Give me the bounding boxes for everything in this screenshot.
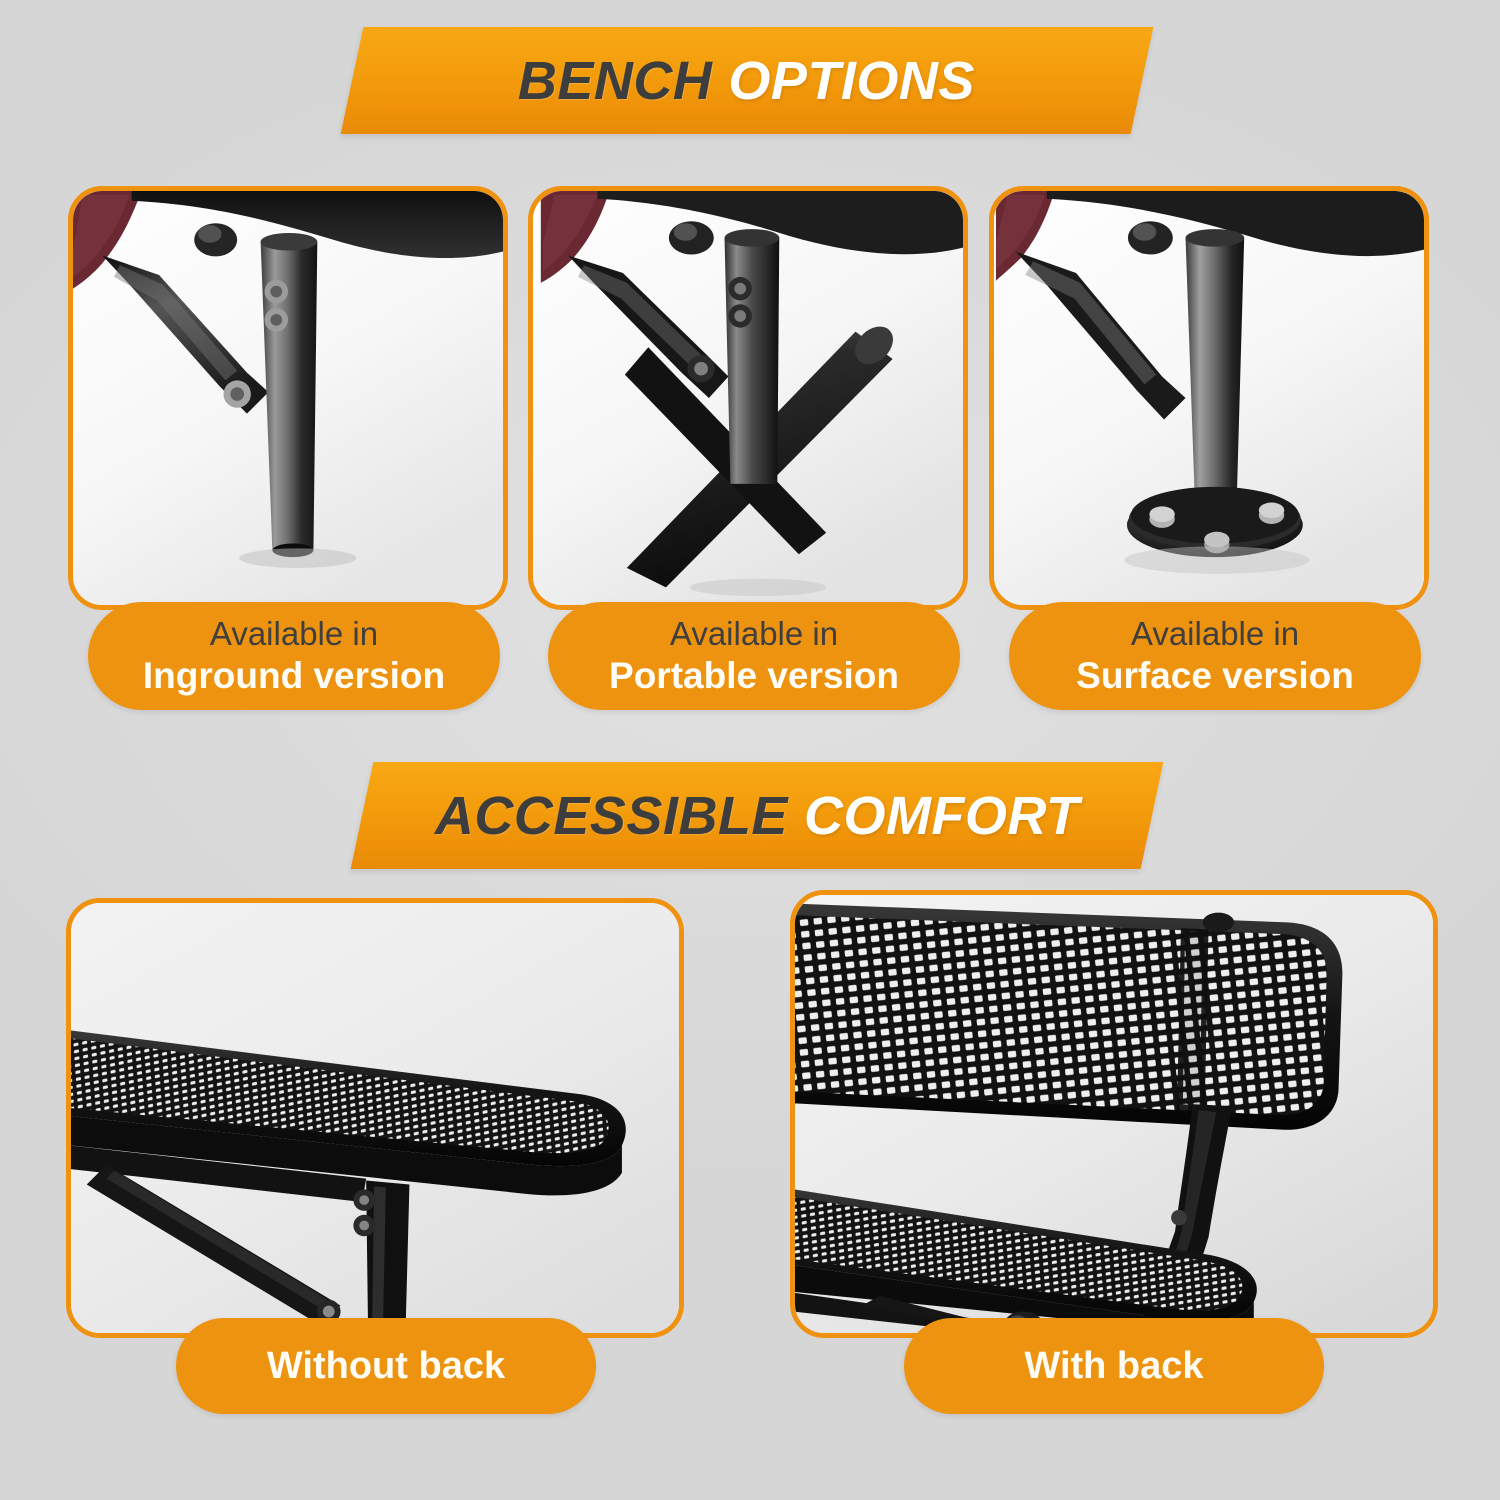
- pill-portable-line2: Portable version: [609, 654, 899, 698]
- pill-inground-line1: Available in: [210, 615, 378, 654]
- bench-leg-inground-art: [73, 191, 503, 605]
- card-with-back[interactable]: [790, 890, 1438, 1338]
- pill-surface-line2: Surface version: [1076, 654, 1354, 698]
- banner-word-dark: BENCH: [518, 50, 713, 112]
- pill-portable-line1: Available in: [670, 615, 838, 654]
- bench-leg-portable-art: [533, 191, 963, 605]
- banner-word-light: OPTIONS: [729, 50, 976, 112]
- photo-surface: [994, 191, 1424, 605]
- banner2-word-light: COMFORT: [804, 785, 1079, 847]
- infographic-page: BENCH OPTIONS: [0, 0, 1500, 1500]
- banner2-word-dark: ACCESSIBLE: [435, 785, 788, 847]
- card-inground[interactable]: [68, 186, 508, 610]
- photo-with-back: [795, 895, 1433, 1333]
- pill-surface: Available in Surface version: [1009, 602, 1421, 710]
- card-without-back[interactable]: [66, 898, 684, 1338]
- pill-without-back: Without back: [176, 1318, 596, 1414]
- pill-surface-line1: Available in: [1131, 615, 1299, 654]
- banner-accessible-comfort: ACCESSIBLE COMFORT: [351, 762, 1164, 869]
- bench-no-backrest-art: [71, 903, 679, 1333]
- pill-portable: Available in Portable version: [548, 602, 960, 710]
- bench-with-backrest-art: [795, 895, 1433, 1333]
- bench-leg-surface-art: [994, 191, 1424, 605]
- pill-with-back: With back: [904, 1318, 1324, 1414]
- pill-without-back-label: Without back: [267, 1344, 505, 1389]
- pill-inground: Available in Inground version: [88, 602, 500, 710]
- card-surface[interactable]: [989, 186, 1429, 610]
- photo-portable: [533, 191, 963, 605]
- card-portable[interactable]: [528, 186, 968, 610]
- pill-with-back-label: With back: [1024, 1344, 1203, 1389]
- pill-inground-line2: Inground version: [143, 654, 445, 698]
- banner-bench-options: BENCH OPTIONS: [341, 27, 1154, 134]
- photo-inground: [73, 191, 503, 605]
- photo-without-back: [71, 903, 679, 1333]
